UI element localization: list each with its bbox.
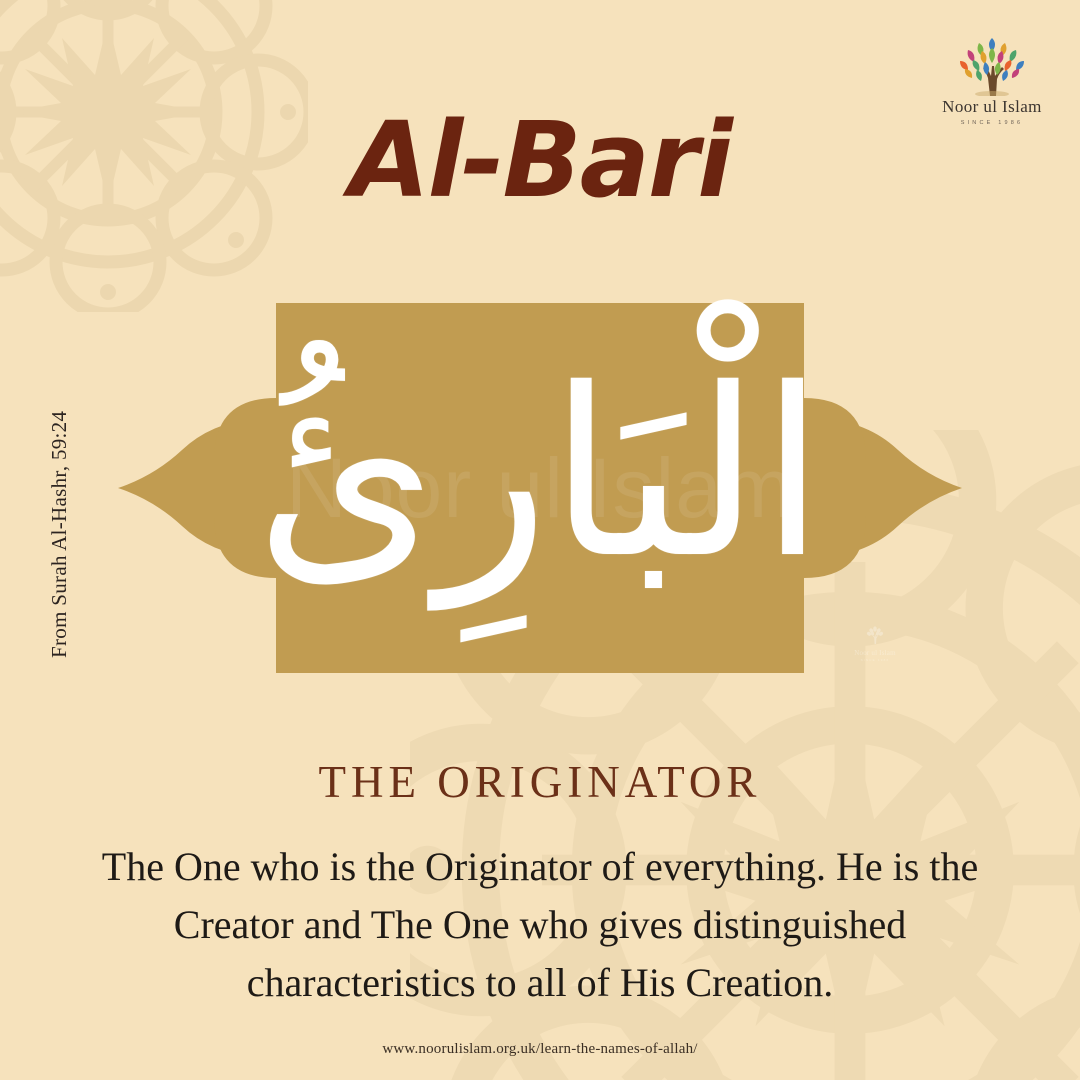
- page-title: Al-Bari: [0, 108, 1080, 212]
- watermark-logo-since: SINCE 1986: [840, 658, 910, 662]
- calligraphy-plaque: Noor ul Islam الْبَارِئُ Noor ul Islam S…: [118, 288, 962, 688]
- plaque-watermark-logo: Noor ul Islam SINCE 1986: [840, 626, 910, 662]
- meaning-heading: THE ORIGINATOR: [0, 756, 1080, 808]
- name-of-allah-poster: Noor ul Islam SINCE 1986 From Surah Al-H…: [0, 0, 1080, 1080]
- arabic-calligraphy-text: الْبَارِئُ: [118, 288, 962, 688]
- tree-logo-icon: [926, 34, 1058, 96]
- watermark-logo-name: Noor ul Islam: [840, 649, 910, 657]
- footer-url[interactable]: www.noorulislam.org.uk/learn-the-names-o…: [0, 1041, 1080, 1058]
- watermark-tree-icon: [864, 626, 886, 644]
- meaning-description: The One who is the Originator of everyth…: [78, 838, 1002, 1012]
- source-reference: From Surah Al-Hashr, 59:24: [47, 318, 72, 658]
